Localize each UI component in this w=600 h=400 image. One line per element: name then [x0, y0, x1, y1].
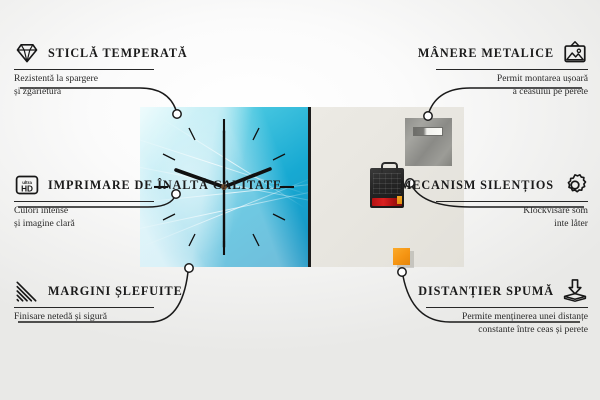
feature-subtitle: Permit montarea ușoară a ceasului pe per… [436, 73, 588, 98]
hanger-keyhole-slot [413, 127, 443, 136]
feature-divider [436, 201, 588, 202]
feature-title: MECANISM SILENȚIOS [400, 178, 554, 192]
feature-tempered-glass: STICLĂ TEMPERATĂ Rezistentă la spargere … [14, 40, 154, 98]
feature-divider [14, 307, 154, 308]
feature-header: DISTANȚIER SPUMĂ [426, 278, 588, 304]
feature-subtitle: Klockvisare som inte låter [436, 205, 588, 230]
feature-foam-spacer: DISTANȚIER SPUMĂ Permite menținerea unei… [426, 278, 588, 336]
feature-header: MÂNERE METALICE [436, 40, 588, 66]
metal-hanger-plate [405, 118, 452, 166]
feature-title: IMPRIMARE DE ÎNALTĂ CALITATE [48, 178, 282, 192]
hd-label: HD [21, 184, 33, 193]
gear-icon [562, 172, 588, 198]
foam-spacer-pad [393, 248, 410, 265]
feature-title: MARGINI ȘLEFUITE [48, 284, 183, 298]
infographic-canvas: STICLĂ TEMPERATĂ Rezistentă la spargere … [0, 0, 600, 400]
feature-polished-edges: MARGINI ȘLEFUITE Finisare netedă și sigu… [14, 278, 154, 324]
feature-title: MÂNERE METALICE [418, 46, 554, 60]
polished-edge-icon [14, 278, 40, 304]
battery-positive-tip [397, 196, 402, 204]
feature-divider [14, 201, 154, 202]
clock-mechanism [370, 168, 404, 208]
feature-silent-mechanism: MECANISM SILENȚIOS Klockvisare som inte … [436, 172, 588, 230]
diamond-icon [14, 40, 40, 66]
feature-subtitle: Finisare netedă și sigură [14, 311, 154, 324]
feature-title: STICLĂ TEMPERATĂ [48, 46, 188, 60]
feature-metal-handles: MÂNERE METALICE Permit montarea ușoară a… [436, 40, 588, 98]
press-down-icon [562, 278, 588, 304]
connector-endpoint [398, 268, 406, 276]
feature-header: MECANISM SILENȚIOS [436, 172, 588, 198]
picture-frame-icon [562, 40, 588, 66]
feature-subtitle: Culori intense și imagine clară [14, 205, 154, 230]
feature-subtitle: Permite menținerea unei distanțe constan… [426, 311, 588, 336]
mechanism-hanging-loop [381, 162, 398, 173]
feature-header: STICLĂ TEMPERATĂ [14, 40, 154, 66]
feature-high-quality-print: ultra HD IMPRIMARE DE ÎNALTĂ CALITATE Cu… [14, 172, 154, 230]
feature-header: MARGINI ȘLEFUITE [14, 278, 154, 304]
feature-divider [436, 69, 588, 70]
feature-header: ultra HD IMPRIMARE DE ÎNALTĂ CALITATE [14, 172, 154, 198]
feature-divider [14, 69, 154, 70]
feature-subtitle: Rezistentă la spargere și zgârietura [14, 73, 154, 98]
aa-battery [372, 198, 402, 206]
mechanism-casing-texture [373, 173, 401, 194]
feature-title: DISTANȚIER SPUMĂ [418, 284, 554, 298]
ultra-hd-icon: ultra HD [14, 172, 40, 198]
feature-divider [426, 307, 588, 308]
